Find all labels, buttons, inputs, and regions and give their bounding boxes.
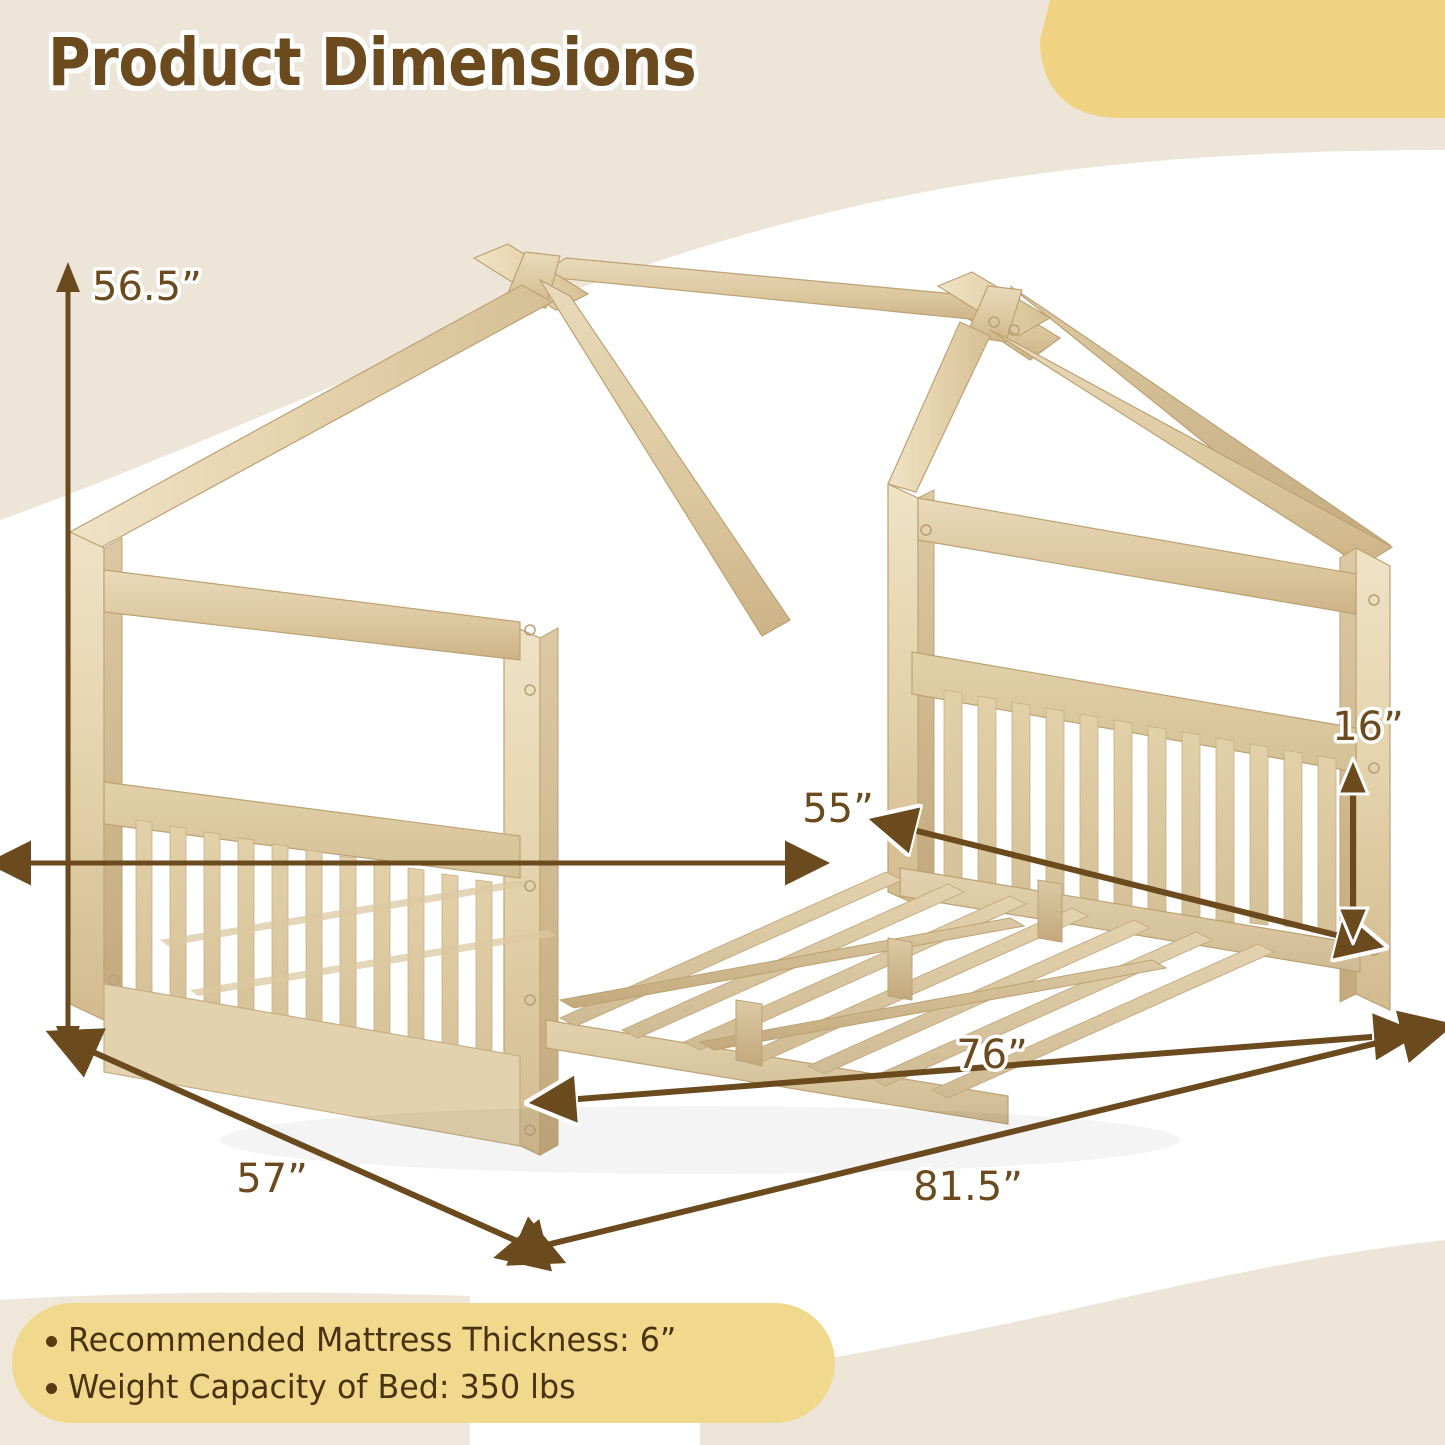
dim-line-overall-depth	[84, 1048, 528, 1246]
notes-panel: Recommended Mattress Thickness: 6” Weigh…	[12, 1303, 835, 1423]
bullet-icon	[46, 1383, 57, 1394]
dim-arrowhead-height-top	[56, 262, 80, 292]
dim-label-mattress-width: 55”	[802, 786, 874, 832]
dim-label-overall-length: 81.5”	[913, 1164, 1023, 1210]
dim-label-mattress-length: 76”	[956, 1032, 1028, 1078]
note-row-weight-capacity: Weight Capacity of Bed: 350 lbs	[46, 1363, 835, 1410]
note-text-weight-capacity: Weight Capacity of Bed: 350 lbs	[68, 1367, 576, 1406]
dim-label-height: 56.5”	[92, 264, 202, 310]
product-dimensions-infographic: Product Dimensions	[0, 0, 1445, 1445]
page-title-wrap: Product Dimensions	[48, 30, 785, 96]
note-text-mattress-thickness: Recommended Mattress Thickness: 6”	[68, 1320, 676, 1359]
page-title: Product Dimensions	[48, 30, 696, 96]
dim-label-overall-depth: 57”	[236, 1156, 308, 1202]
dim-arrowhead-height-bottom	[56, 1026, 80, 1056]
dim-label-rail-height: 16”	[1332, 704, 1404, 750]
dim-arrowhead-rail-top	[1338, 758, 1368, 794]
bullet-icon	[46, 1336, 57, 1347]
dim-line-mattress-width	[905, 828, 1348, 938]
note-row-mattress-thickness: Recommended Mattress Thickness: 6”	[46, 1316, 835, 1363]
dimension-annotations: 56.5” 55” 16” 76” 57” 81.5”	[0, 0, 1445, 1445]
